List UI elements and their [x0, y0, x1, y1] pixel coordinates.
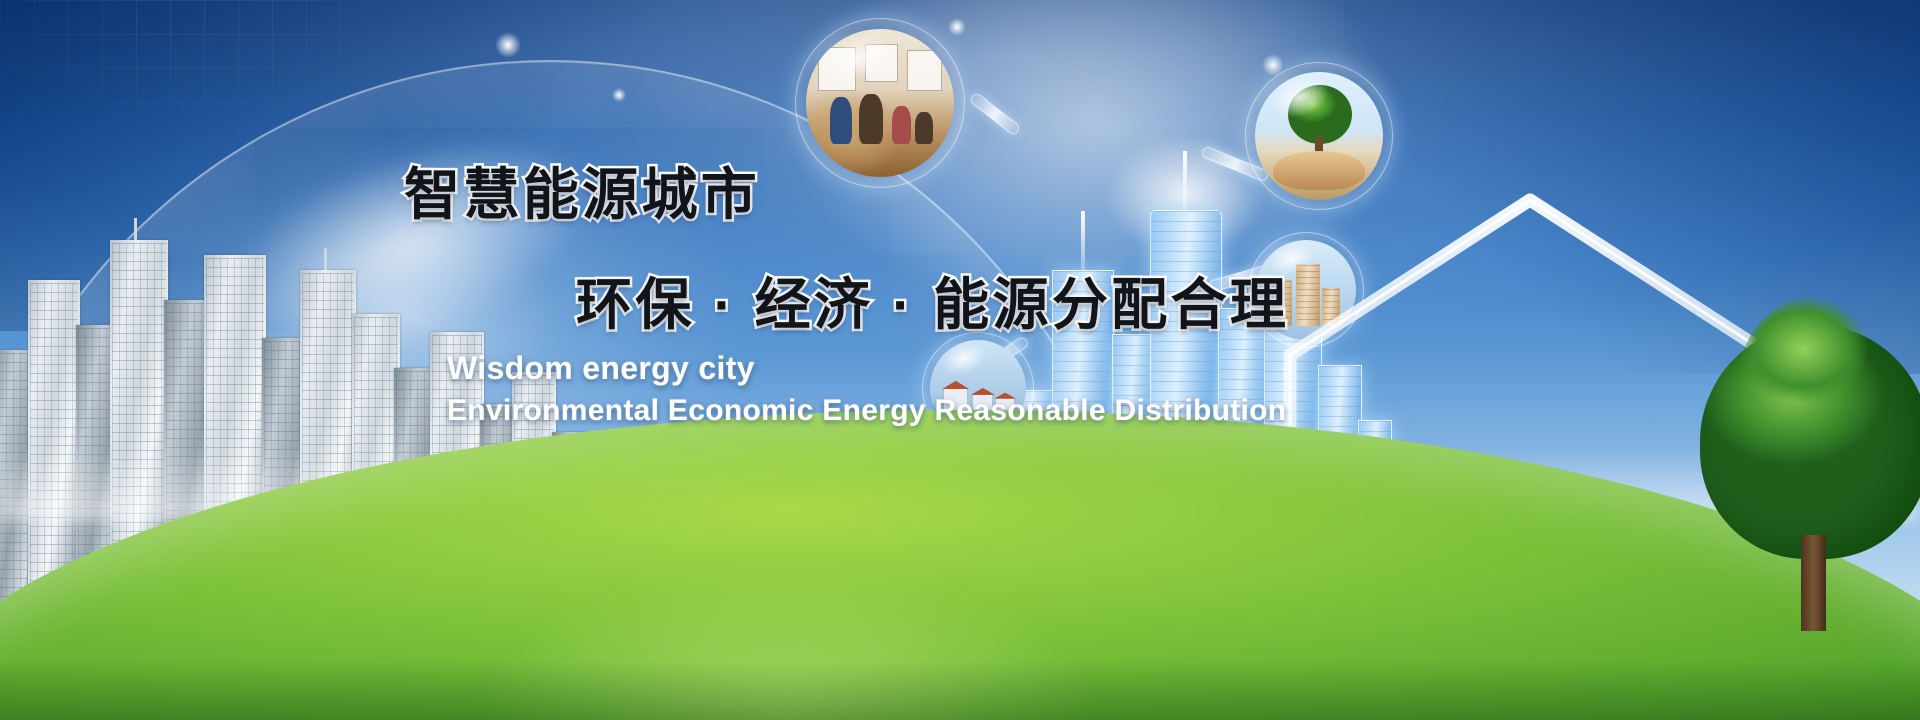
subheadline-english: Environmental Economic Energy Reasonable… [447, 394, 1286, 428]
subheadline-chinese: 环保 · 经济 · 能源分配合理 [576, 260, 1289, 341]
promotional-banner: 智慧能源城市 环保 · 经济 · 能源分配合理 Wisdom energy ci… [0, 0, 1920, 720]
banner-copy: 智慧能源城市 环保 · 经济 · 能源分配合理 Wisdom energy ci… [0, 0, 1920, 720]
headline-chinese: 智慧能源城市 [404, 150, 760, 231]
headline-english: Wisdom energy city [447, 350, 755, 387]
